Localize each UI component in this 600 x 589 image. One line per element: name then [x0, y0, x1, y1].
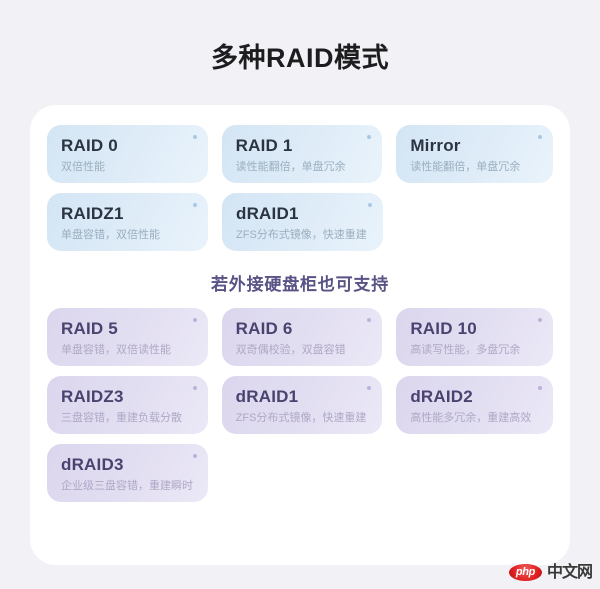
card-description: 双倍性能: [61, 159, 194, 175]
card-accent-dot-icon: [368, 203, 372, 207]
card-title: RAIDZ1: [61, 204, 194, 224]
card-accent-dot-icon: [538, 386, 542, 390]
card-accent-dot-icon: [193, 135, 197, 139]
extended-row-2: RAIDZ3 三盘容错，重建负载分散 dRAID1 ZFS分布式镜像，快速重建 …: [30, 376, 570, 434]
raid-card-draid3[interactable]: dRAID3 企业级三盘容错，重建瞬时: [47, 444, 208, 502]
raid-card-raid-1[interactable]: RAID 1 读性能翻倍，单盘冗余: [222, 125, 383, 183]
card-accent-dot-icon: [538, 135, 542, 139]
php-logo-icon: php: [509, 564, 542, 581]
raid-card-mirror[interactable]: Mirror 读性能翻倍，单盘冗余: [396, 125, 553, 183]
watermark-text: 中文网: [547, 565, 592, 581]
card-title: RAID 6: [236, 319, 369, 339]
card-description: ZFS分布式镜像，快速重建: [236, 227, 369, 243]
section-divider-label: 若外接硬盘柜也可支持: [30, 261, 570, 308]
raid-card-draid1-basic[interactable]: dRAID1 ZFS分布式镜像，快速重建: [222, 193, 383, 251]
extended-raid-section: RAID 5 单盘容错，双倍读性能 RAID 6 双奇偶校验，双盘容错 RAID…: [30, 308, 570, 502]
card-accent-dot-icon: [193, 318, 197, 322]
basic-raid-section: RAID 0 双倍性能 RAID 1 读性能翻倍，单盘冗余 Mirror 读性能…: [30, 125, 570, 251]
page-title: 多种RAID模式: [0, 0, 600, 74]
card-description: 读性能翻倍，单盘冗余: [410, 159, 539, 175]
card-accent-dot-icon: [193, 386, 197, 390]
card-title: RAIDZ3: [61, 387, 194, 407]
basic-row-2: RAIDZ1 单盘容错，双倍性能 dRAID1 ZFS分布式镜像，快速重建: [30, 193, 570, 251]
card-title: dRAID3: [61, 455, 194, 475]
panel-top-spacer: [30, 105, 570, 125]
raid-modes-panel: RAID 0 双倍性能 RAID 1 读性能翻倍，单盘冗余 Mirror 读性能…: [30, 105, 570, 565]
raid-card-raid-5[interactable]: RAID 5 单盘容错，双倍读性能: [47, 308, 208, 366]
card-title: RAID 0: [61, 136, 194, 156]
card-title: Mirror: [410, 136, 539, 156]
card-description: 单盘容错，双倍读性能: [61, 342, 194, 358]
card-title: RAID 1: [236, 136, 369, 156]
raid-card-raidz1[interactable]: RAIDZ1 单盘容错，双倍性能: [47, 193, 208, 251]
card-description: 双奇偶校验，双盘容错: [236, 342, 369, 358]
card-description: 三盘容错，重建负载分散: [61, 410, 194, 426]
card-accent-dot-icon: [367, 386, 371, 390]
card-accent-dot-icon: [367, 318, 371, 322]
card-description: 高性能多冗余，重建高效: [410, 410, 539, 426]
card-title: RAID 10: [410, 319, 539, 339]
card-accent-dot-icon: [538, 318, 542, 322]
card-title: RAID 5: [61, 319, 194, 339]
raid-card-raid-10[interactable]: RAID 10 高读写性能，多盘冗余: [396, 308, 553, 366]
raid-card-raidz3[interactable]: RAIDZ3 三盘容错，重建负载分散: [47, 376, 208, 434]
card-title: dRAID1: [236, 204, 369, 224]
basic-row-1: RAID 0 双倍性能 RAID 1 读性能翻倍，单盘冗余 Mirror 读性能…: [30, 125, 570, 183]
card-description: 企业级三盘容错，重建瞬时: [61, 478, 194, 494]
watermark: php 中文网: [509, 564, 592, 581]
extended-row-1: RAID 5 单盘容错，双倍读性能 RAID 6 双奇偶校验，双盘容错 RAID…: [30, 308, 570, 366]
card-description: 读性能翻倍，单盘冗余: [236, 159, 369, 175]
card-title: dRAID2: [410, 387, 539, 407]
card-accent-dot-icon: [193, 203, 197, 207]
card-accent-dot-icon: [367, 135, 371, 139]
extended-row-3: dRAID3 企业级三盘容错，重建瞬时: [30, 444, 570, 502]
card-description: 单盘容错，双倍性能: [61, 227, 194, 243]
card-title: dRAID1: [236, 387, 369, 407]
card-description: ZFS分布式镜像，快速重建: [236, 410, 369, 426]
raid-card-draid2[interactable]: dRAID2 高性能多冗余，重建高效: [396, 376, 553, 434]
raid-card-raid-6[interactable]: RAID 6 双奇偶校验，双盘容错: [222, 308, 383, 366]
raid-card-draid1-extended[interactable]: dRAID1 ZFS分布式镜像，快速重建: [222, 376, 383, 434]
card-accent-dot-icon: [193, 454, 197, 458]
card-description: 高读写性能，多盘冗余: [410, 342, 539, 358]
raid-card-raid-0[interactable]: RAID 0 双倍性能: [47, 125, 208, 183]
